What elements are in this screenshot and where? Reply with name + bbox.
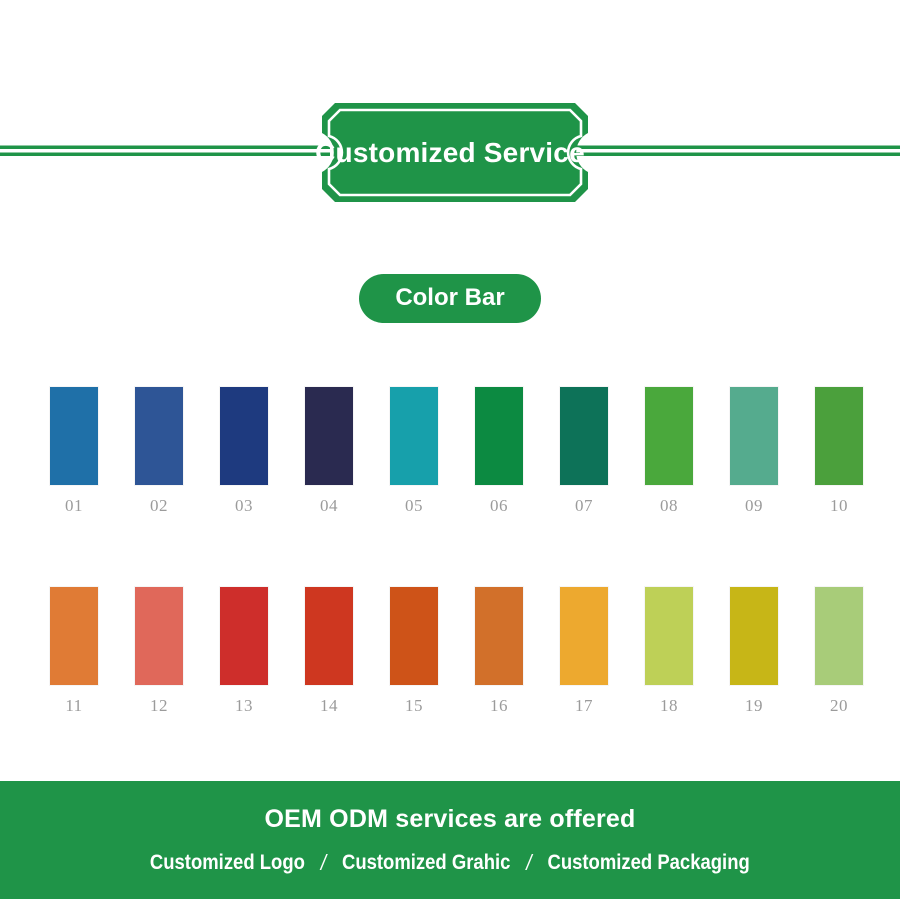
header-rule-right xyxy=(570,146,900,157)
color-swatch-number: 14 xyxy=(320,696,338,716)
footer-service-item: Customized Grahic xyxy=(342,851,510,875)
color-swatch-11[interactable]: 11 xyxy=(50,587,98,716)
color-chip[interactable] xyxy=(730,387,778,485)
color-swatch-14[interactable]: 14 xyxy=(305,587,353,716)
color-swatch-03[interactable]: 03 xyxy=(220,387,268,516)
footer-headline: OEM ODM services are offered xyxy=(264,805,635,834)
color-swatch-20[interactable]: 20 xyxy=(815,587,863,716)
color-swatch-number: 06 xyxy=(490,496,508,516)
color-swatch-19[interactable]: 19 xyxy=(730,587,778,716)
color-chip[interactable] xyxy=(135,587,183,685)
color-chip[interactable] xyxy=(645,387,693,485)
header-rule-left xyxy=(0,146,330,157)
color-swatch-number: 04 xyxy=(320,496,338,516)
color-chip[interactable] xyxy=(475,587,523,685)
color-swatch-number: 03 xyxy=(235,496,253,516)
color-chip[interactable] xyxy=(305,387,353,485)
color-swatch-number: 16 xyxy=(490,696,508,716)
color-swatch-number: 18 xyxy=(660,696,678,716)
footer-bar: OEM ODM services are offered Customized … xyxy=(0,781,900,899)
color-swatch-number: 17 xyxy=(575,696,593,716)
color-swatch-number: 19 xyxy=(745,696,763,716)
color-swatch-04[interactable]: 04 xyxy=(305,387,353,516)
color-swatch-16[interactable]: 16 xyxy=(475,587,523,716)
color-swatch-08[interactable]: 08 xyxy=(645,387,693,516)
color-swatch-number: 11 xyxy=(65,696,82,716)
color-swatch-number: 01 xyxy=(65,496,83,516)
color-swatch-18[interactable]: 18 xyxy=(645,587,693,716)
color-swatch-number: 13 xyxy=(235,696,253,716)
color-chip[interactable] xyxy=(560,387,608,485)
color-swatch-10[interactable]: 10 xyxy=(815,387,863,516)
color-chip[interactable] xyxy=(390,387,438,485)
color-swatch-05[interactable]: 05 xyxy=(390,387,438,516)
color-swatch-17[interactable]: 17 xyxy=(560,587,608,716)
color-swatch-number: 05 xyxy=(405,496,423,516)
color-chip[interactable] xyxy=(645,587,693,685)
color-chip[interactable] xyxy=(220,387,268,485)
color-swatch-number: 20 xyxy=(830,696,848,716)
color-chip[interactable] xyxy=(815,387,863,485)
color-swatch-07[interactable]: 07 xyxy=(560,387,608,516)
footer-separator: / xyxy=(321,850,326,876)
color-swatch-number: 02 xyxy=(150,496,168,516)
color-chip[interactable] xyxy=(50,387,98,485)
color-swatch-09[interactable]: 09 xyxy=(730,387,778,516)
color-swatch-02[interactable]: 02 xyxy=(135,387,183,516)
color-swatch-01[interactable]: 01 xyxy=(50,387,98,516)
color-swatch-12[interactable]: 12 xyxy=(135,587,183,716)
footer-service-item: Customized Logo xyxy=(150,851,305,875)
color-bar-section-title: Color Bar xyxy=(359,274,540,323)
color-swatch-15[interactable]: 15 xyxy=(390,587,438,716)
color-chip[interactable] xyxy=(220,587,268,685)
color-swatch-number: 15 xyxy=(405,696,423,716)
color-chip[interactable] xyxy=(390,587,438,685)
color-chip[interactable] xyxy=(475,387,523,485)
color-swatch-number: 08 xyxy=(660,496,678,516)
color-swatch-number: 09 xyxy=(745,496,763,516)
color-swatch-13[interactable]: 13 xyxy=(220,587,268,716)
header-banner-graphic xyxy=(0,95,900,210)
color-swatch-row-2: 11121314151617181920 xyxy=(50,587,864,716)
color-chip[interactable] xyxy=(305,587,353,685)
footer-service-item: Customized Packaging xyxy=(548,851,750,875)
color-chip[interactable] xyxy=(560,587,608,685)
footer-services-list: Customized Logo/Customized Grahic/Custom… xyxy=(150,850,750,876)
color-swatch-number: 12 xyxy=(150,696,168,716)
color-chip[interactable] xyxy=(50,587,98,685)
color-chip[interactable] xyxy=(135,387,183,485)
color-swatch-row-1: 01020304050607080910 xyxy=(50,387,864,516)
color-swatch-number: 10 xyxy=(830,496,848,516)
section-pill-container: Color Bar xyxy=(0,274,900,323)
footer-separator: / xyxy=(526,850,531,876)
color-swatch-number: 07 xyxy=(575,496,593,516)
color-chip[interactable] xyxy=(815,587,863,685)
color-chip[interactable] xyxy=(730,587,778,685)
color-swatch-06[interactable]: 06 xyxy=(475,387,523,516)
header-plaque-outer xyxy=(322,103,588,202)
header-banner: Customized Service xyxy=(0,95,900,210)
